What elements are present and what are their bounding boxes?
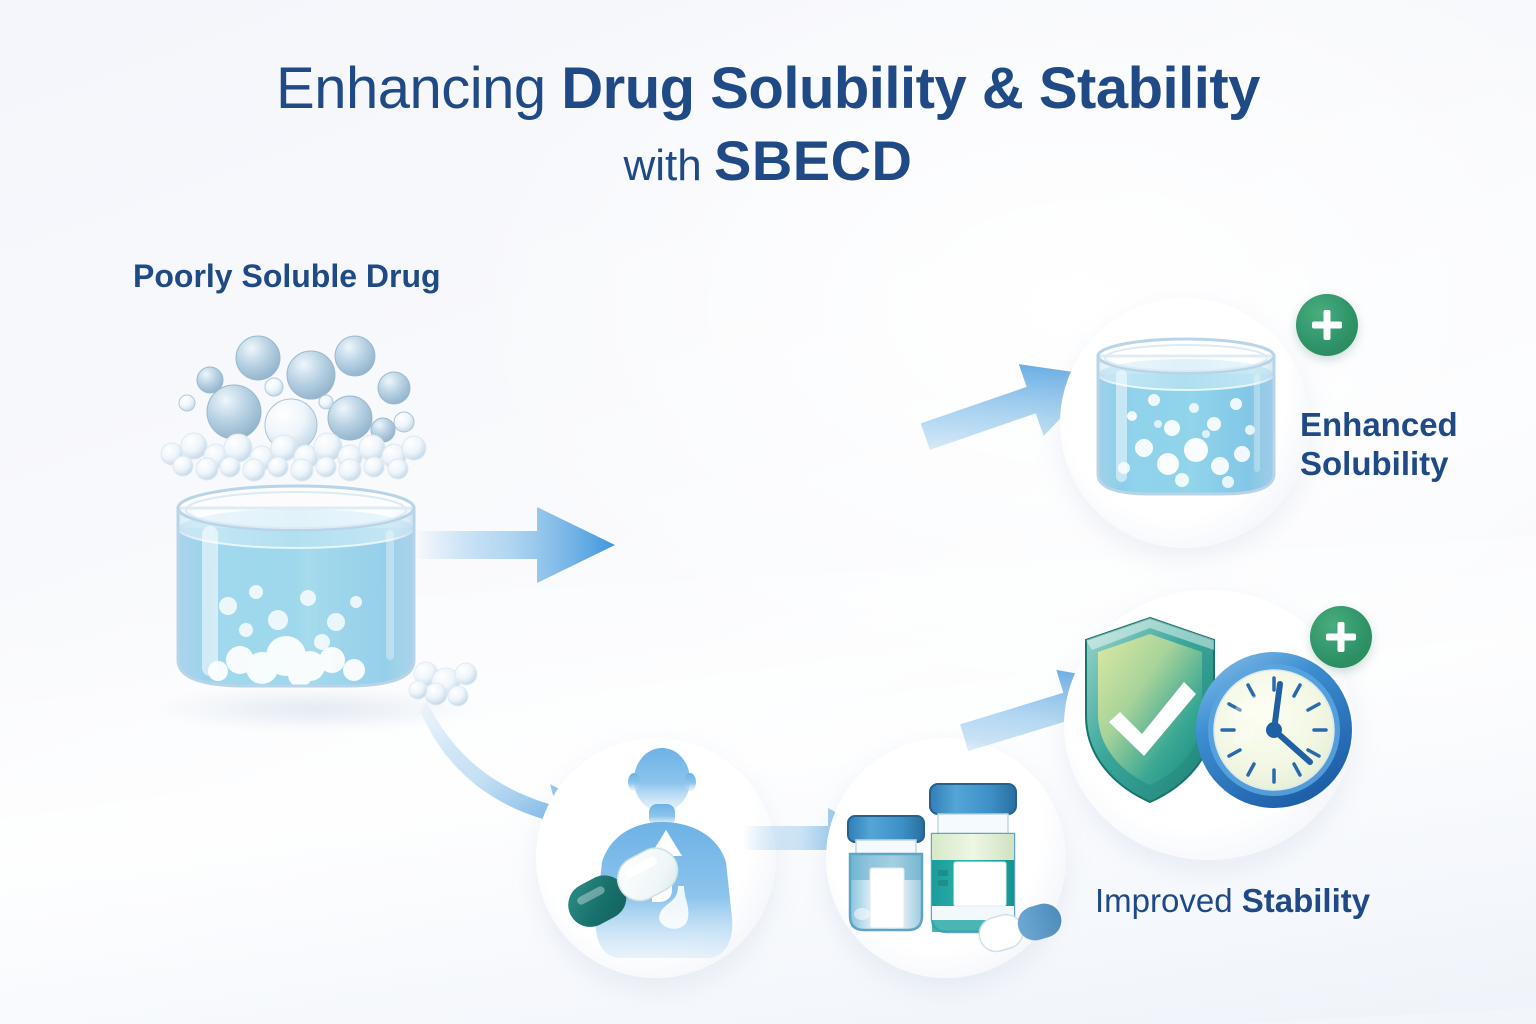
- title-line-1-bold: Drug Solubility & Stability: [561, 56, 1260, 121]
- solubility-beaker-group: [1062, 288, 1312, 538]
- title-line-2-bold: SBECD: [714, 129, 913, 192]
- title-line-2-light: with: [623, 141, 713, 190]
- label-improved-bold: Stability: [1242, 882, 1370, 919]
- page-title: Enhancing Drug Solubility & Stability wi…: [0, 58, 1536, 191]
- solubility-beaker-vessel: [1098, 339, 1274, 494]
- formulation-icon-group: [826, 738, 1066, 978]
- infographic-canvas: Enhancing Drug Solubility & Stability wi…: [0, 0, 1536, 1024]
- label-improved-light: Improved: [1095, 882, 1242, 919]
- title-line-1-light: Enhancing: [276, 56, 561, 121]
- label-poorly-soluble-drug: Poorly Soluble Drug: [133, 258, 441, 296]
- plus-badge-stability: [1310, 606, 1372, 668]
- bioavailability-icon-group: [536, 738, 776, 978]
- label-enhanced-solubility: Enhanced Solubility: [1300, 406, 1458, 484]
- shield-check-icon: [1086, 618, 1214, 802]
- floating-powder-clumps: [179, 336, 414, 451]
- arrow-main-right: [415, 495, 630, 595]
- large-bottle-icon: [930, 784, 1016, 932]
- source-beaker-vessel: [178, 486, 414, 687]
- label-improved-stability: Improved Stability: [1095, 882, 1370, 921]
- plus-badge-solubility: [1296, 294, 1358, 356]
- title-line-2: with SBECD: [0, 131, 1536, 190]
- small-vial-icon: [848, 816, 924, 930]
- title-line-1: Enhancing Drug Solubility & Stability: [0, 58, 1536, 119]
- clock-icon: [1196, 652, 1352, 808]
